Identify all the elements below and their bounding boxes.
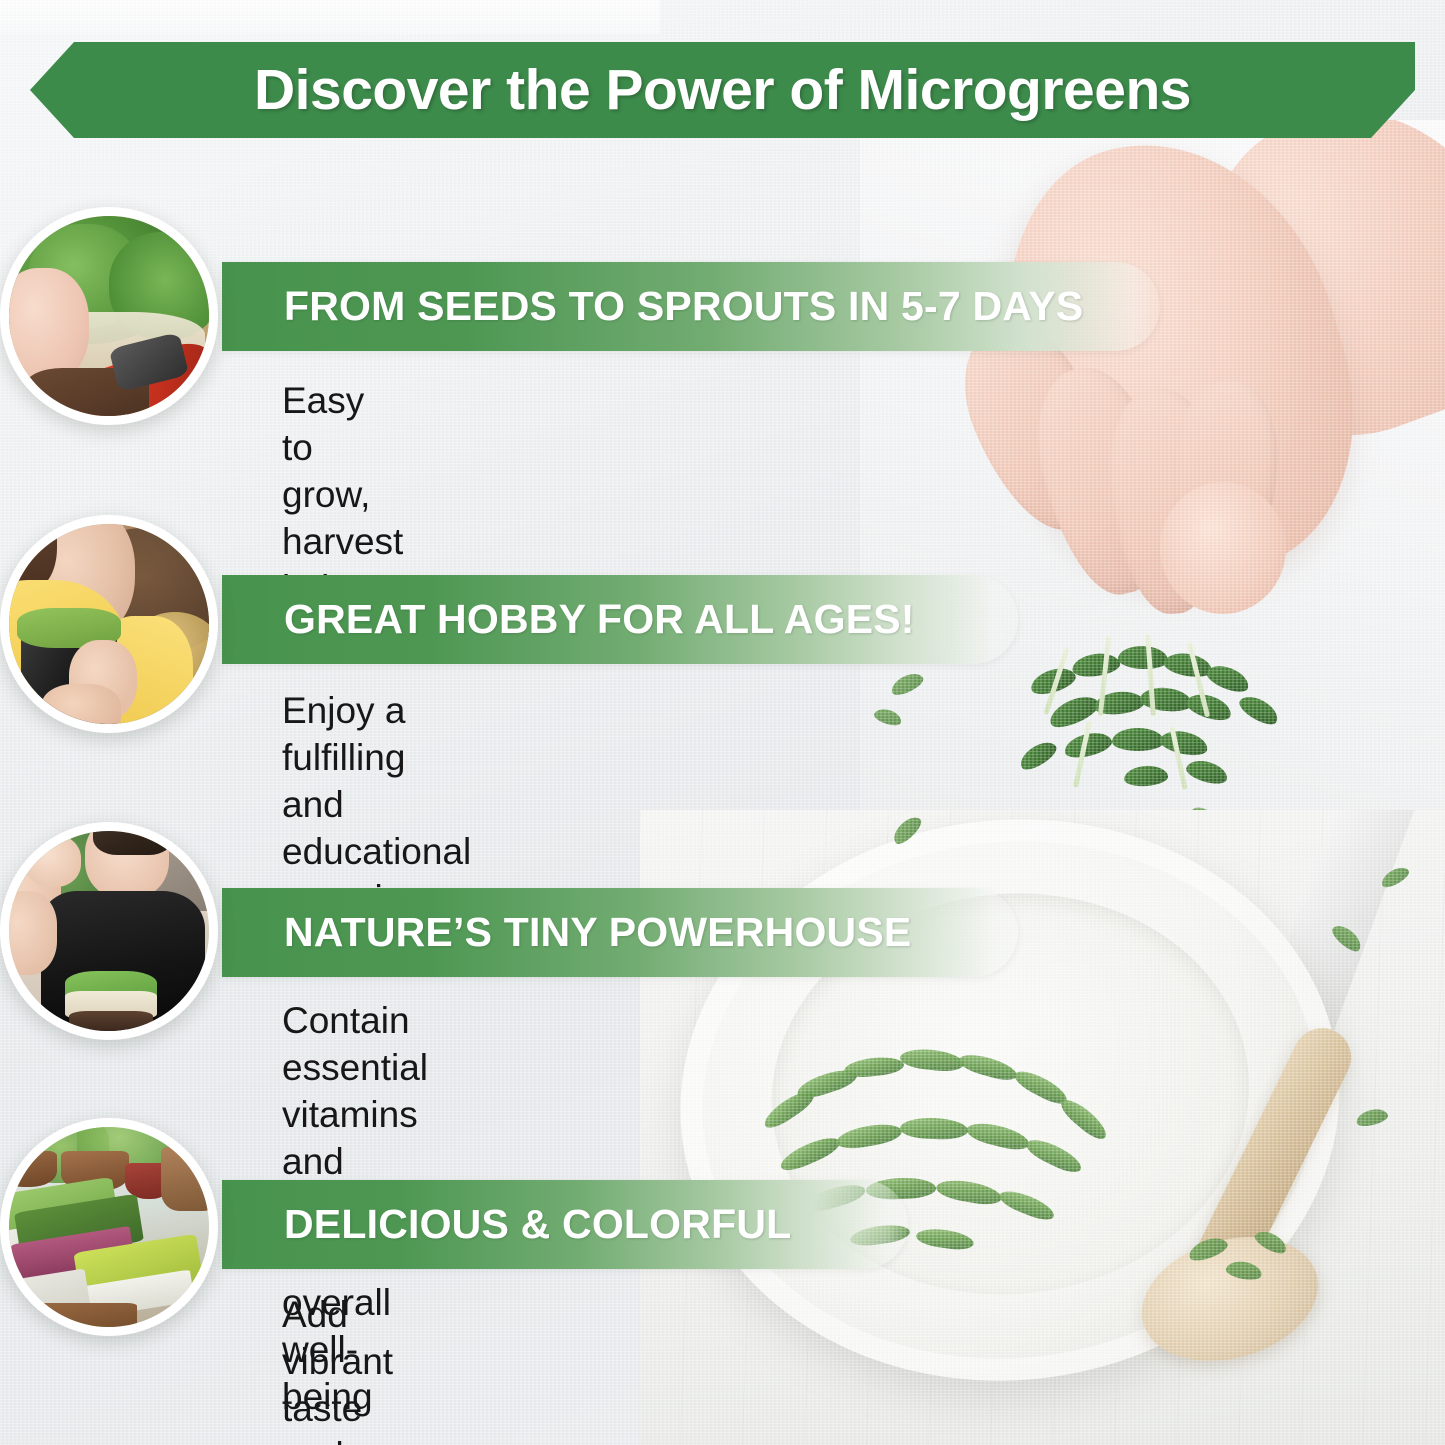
feature-3-heading: NATURE’S TINY POWERHOUSE xyxy=(284,909,911,956)
page-title: Discover the Power of Microgreens xyxy=(254,57,1191,123)
feature-4-heading: DELICIOUS & COLORFUL xyxy=(284,1201,791,1248)
feature-4-heading-bar: DELICIOUS & COLORFUL xyxy=(222,1180,908,1269)
feature-3-thumbnail[interactable] xyxy=(0,822,218,1040)
feature-2-heading-bar: GREAT HOBBY FOR ALL AGES! xyxy=(222,575,1018,664)
feature-1-thumbnail[interactable] xyxy=(0,207,218,425)
title-banner: Discover the Power of Microgreens xyxy=(30,42,1415,138)
feature-1-heading-bar: FROM SEEDS TO SPROUTS IN 5-7 DAYS xyxy=(222,262,1160,351)
feature-3-heading-bar: NATURE’S TINY POWERHOUSE xyxy=(222,888,1018,977)
feature-2-thumbnail[interactable] xyxy=(0,515,218,733)
microgreens-infographic-poster: Discover the Power of Microgreens FROM S… xyxy=(0,0,1445,1445)
feature-1-heading: FROM SEEDS TO SPROUTS IN 5-7 DAYS xyxy=(284,283,1083,330)
feature-2-heading: GREAT HOBBY FOR ALL AGES! xyxy=(284,596,915,643)
feature-4-description: Add vibrant taste and color to your meal… xyxy=(282,1292,393,1445)
feature-4-thumbnail[interactable] xyxy=(0,1118,218,1336)
